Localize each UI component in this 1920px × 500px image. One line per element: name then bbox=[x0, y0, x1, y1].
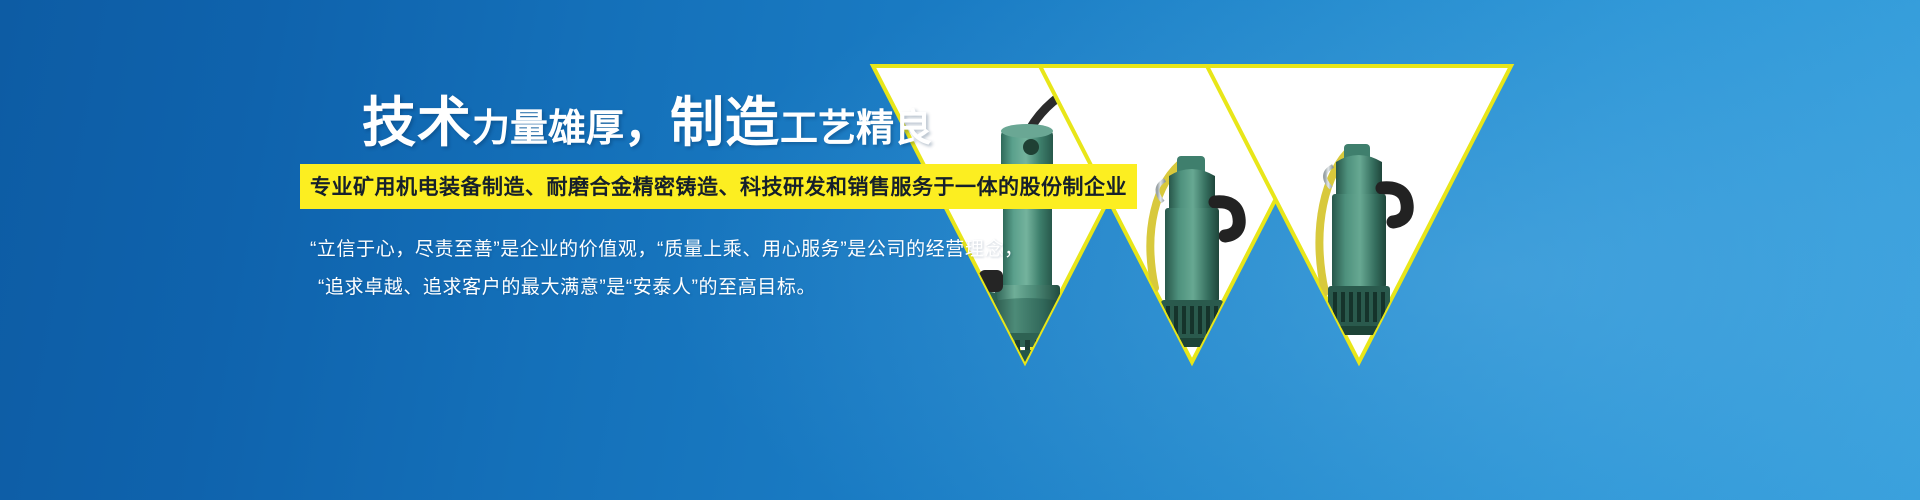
banner-body: “立信于心，尽责至善”是企业的价值观，“质量上乘、用心服务”是公司的经营理念， … bbox=[310, 231, 920, 307]
body-line-1: “立信于心，尽责至善”是企业的价值观，“质量上乘、用心服务”是公司的经营理念， bbox=[310, 231, 920, 269]
headline-part-3: 制造 bbox=[670, 91, 780, 154]
pump-top-cap bbox=[1001, 124, 1053, 138]
headline-comma: ， bbox=[624, 99, 670, 151]
banner-headline: 技术力量雄厚，制造工艺精良 bbox=[362, 96, 920, 150]
triangle-graphics-svg bbox=[855, 52, 1875, 372]
headline-part-2: 力量雄厚 bbox=[472, 106, 624, 150]
promo-banner: 技术力量雄厚，制造工艺精良 专业矿用机电装备制造、耐磨合金精密铸造、科技研发和销… bbox=[0, 0, 1920, 500]
pump-foot-ring bbox=[1159, 338, 1225, 347]
product-triangle-group bbox=[855, 52, 1875, 372]
pump-barrel bbox=[1165, 208, 1219, 302]
highlight-bar: 专业矿用机电装备制造、耐磨合金精密铸造、科技研发和销售服务于一体的股份制企业 bbox=[300, 164, 1137, 209]
headline-part-4: 工艺精良 bbox=[780, 106, 932, 150]
pump-barrel bbox=[1332, 194, 1386, 288]
headline-part-1: 技术 bbox=[362, 91, 472, 154]
pump-motor-housing bbox=[1169, 169, 1215, 210]
body-line-2: “追求卓越、追求客户的最大满意”是“安泰人”的至高目标。 bbox=[310, 269, 920, 307]
pump-cable-port bbox=[1023, 139, 1039, 155]
banner-text-block: 技术力量雄厚，制造工艺精良 专业矿用机电装备制造、耐磨合金精密铸造、科技研发和销… bbox=[300, 96, 920, 307]
pump-foot-ring bbox=[1326, 326, 1392, 335]
pump-motor-housing bbox=[1336, 155, 1382, 194]
